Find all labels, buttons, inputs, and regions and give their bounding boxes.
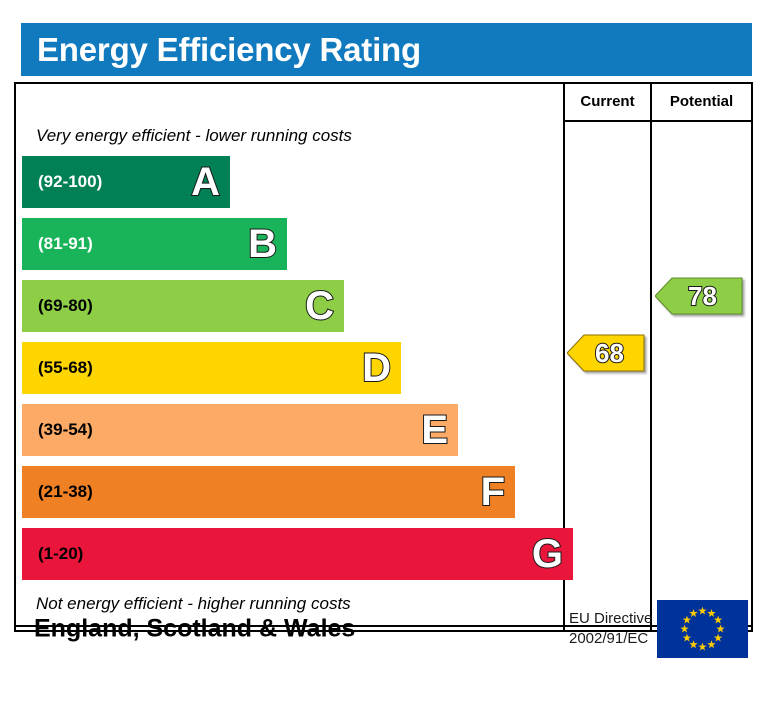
- band-letter-f: F: [481, 472, 505, 512]
- band-range-b: (81-91): [38, 234, 93, 254]
- rating-table: Current Potential Very energy efficient …: [14, 82, 753, 632]
- current-rating-arrow: 68: [567, 333, 645, 373]
- column-header-divider: [563, 120, 751, 122]
- potential-rating-arrow: 78: [655, 276, 743, 316]
- energy-band-b: (81-91) B: [22, 218, 287, 270]
- page-title: Energy Efficiency Rating: [37, 31, 421, 69]
- column-header-current: Current: [565, 84, 650, 120]
- energy-band-e: (39-54) E: [22, 404, 458, 456]
- energy-band-f: (21-38) F: [22, 466, 515, 518]
- band-letter-e: E: [421, 410, 448, 450]
- eu-flag-icon: [657, 600, 748, 658]
- certificate-footer: England, Scotland & Wales EU Directive 2…: [16, 627, 751, 630]
- caption-bottom: Not energy efficient - higher running co…: [36, 594, 351, 614]
- column-divider-potential: [650, 84, 652, 630]
- band-letter-g: G: [532, 534, 563, 574]
- band-letter-c: C: [305, 286, 334, 326]
- band-range-f: (21-38): [38, 482, 93, 502]
- band-range-a: (92-100): [38, 172, 102, 192]
- potential-rating-value: 78: [688, 283, 717, 309]
- region-label: England, Scotland & Wales: [34, 614, 355, 643]
- current-rating-value: 68: [595, 340, 624, 366]
- energy-band-c: (69-80) C: [22, 280, 344, 332]
- energy-band-d: (55-68) D: [22, 342, 401, 394]
- band-letter-a: A: [191, 162, 220, 202]
- eu-directive-line1: EU Directive: [569, 608, 652, 628]
- caption-top: Very energy efficient - lower running co…: [36, 126, 352, 146]
- energy-efficiency-certificate: Energy Efficiency Rating Current Potenti…: [0, 0, 760, 715]
- band-range-g: (1-20): [38, 544, 83, 564]
- band-range-e: (39-54): [38, 420, 93, 440]
- band-range-c: (69-80): [38, 296, 93, 316]
- energy-band-list: (92-100) A (81-91) B (69-80) C (55-68) D…: [22, 156, 562, 592]
- column-header-potential: Potential: [652, 84, 751, 120]
- band-letter-b: B: [248, 224, 277, 264]
- band-letter-d: D: [362, 348, 391, 388]
- eu-directive-label: EU Directive 2002/91/EC: [569, 608, 652, 649]
- energy-band-a: (92-100) A: [22, 156, 230, 208]
- eu-directive-line2: 2002/91/EC: [569, 629, 652, 649]
- header-banner: Energy Efficiency Rating: [21, 23, 752, 76]
- band-range-d: (55-68): [38, 358, 93, 378]
- energy-band-g: (1-20) G: [22, 528, 573, 580]
